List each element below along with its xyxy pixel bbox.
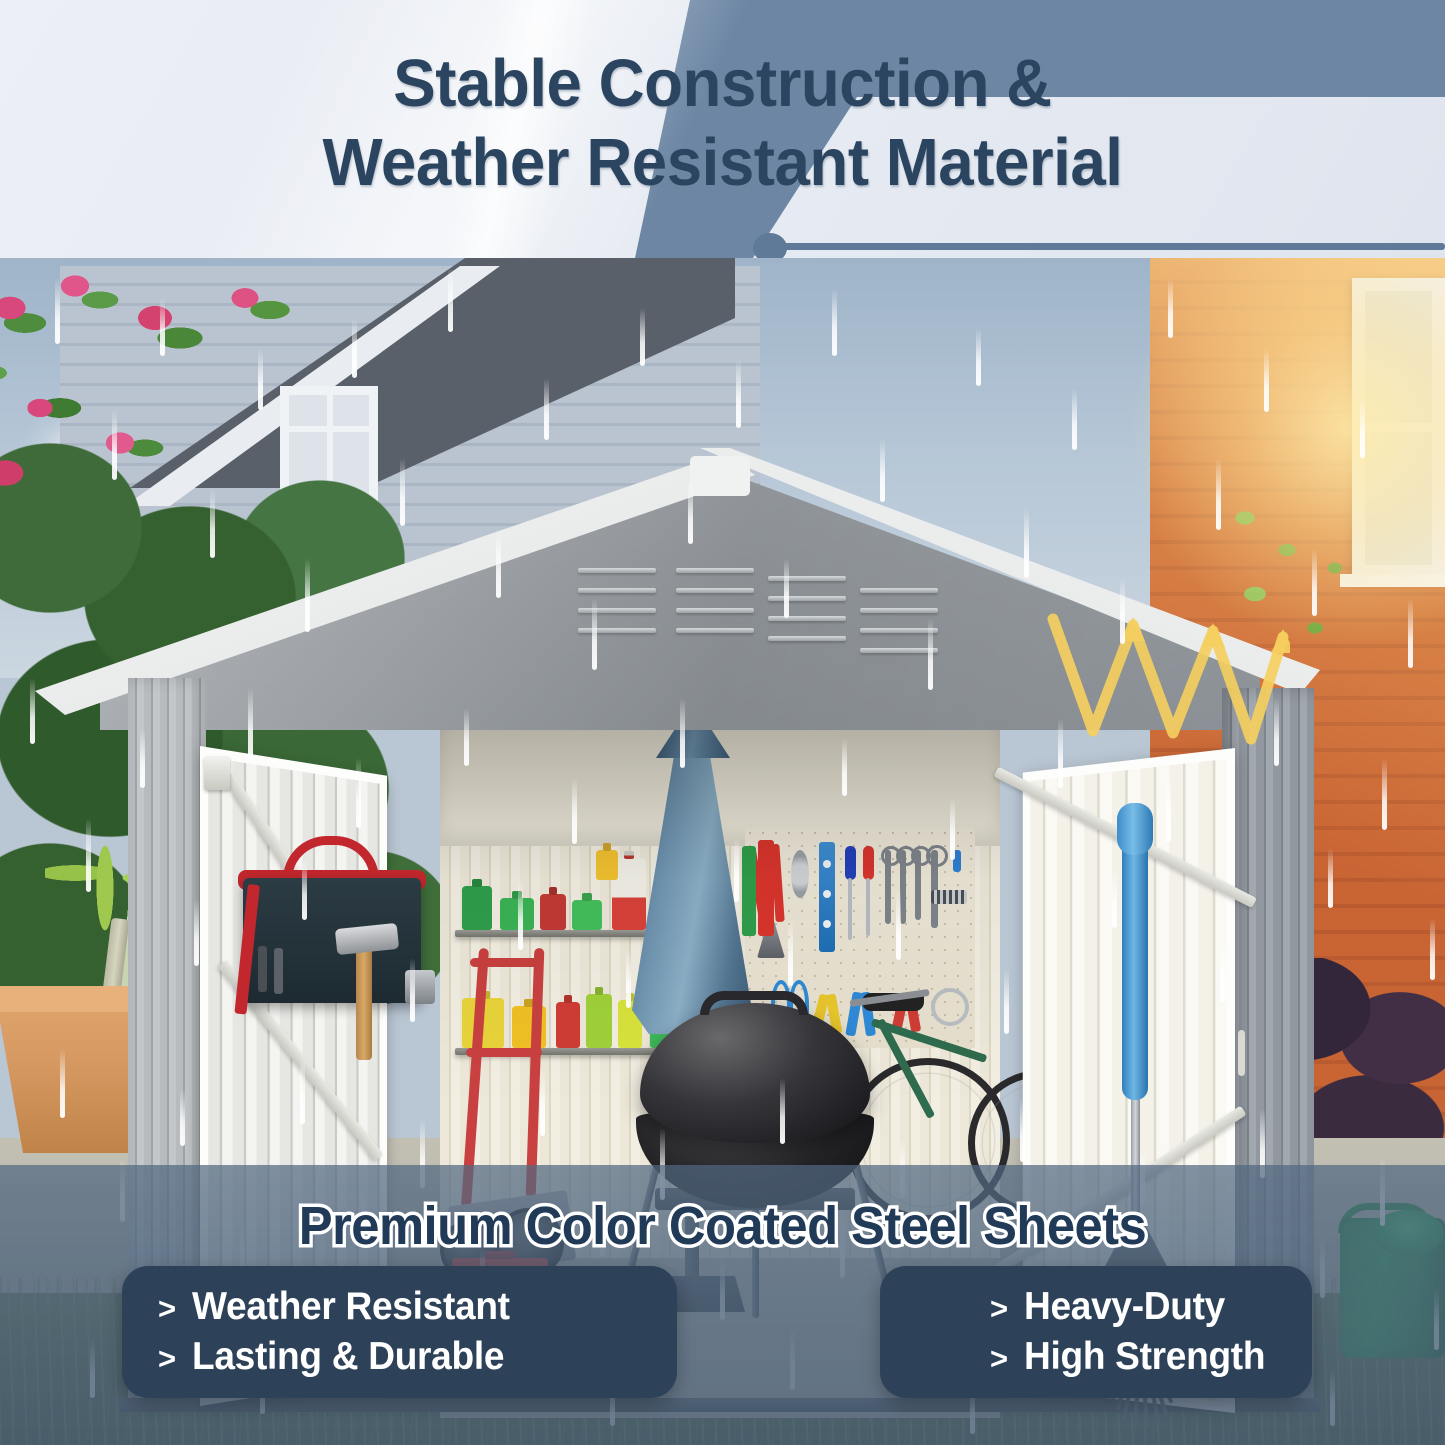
rake-grip bbox=[1117, 803, 1153, 855]
hand-tool-icon bbox=[405, 970, 435, 1004]
hacksaw-blade-icon bbox=[931, 890, 967, 904]
garden-trowel-icon bbox=[742, 846, 756, 936]
page-title-line2: Weather Resistant Material bbox=[36, 123, 1409, 202]
supply-bottle bbox=[556, 1002, 580, 1048]
hand-truck-crossbar bbox=[470, 958, 540, 967]
feature-item-lasting-durable: > Lasting & Durable bbox=[158, 1335, 677, 1379]
feature-item-high-strength: > High Strength bbox=[990, 1335, 1312, 1379]
door-left-hinge bbox=[204, 756, 230, 790]
supply-bottle bbox=[586, 994, 612, 1048]
wrench-ring-icon bbox=[926, 845, 948, 867]
bottom-headline: Premium Color Coated Steel Sheets bbox=[43, 1195, 1401, 1257]
header-rule bbox=[765, 243, 1445, 250]
feature-label: Weather Resistant bbox=[192, 1285, 510, 1329]
roof-vent bbox=[578, 568, 662, 644]
wire-coil-icon bbox=[791, 850, 809, 898]
page-title: Stable Construction & Weather Resistant … bbox=[36, 44, 1409, 202]
hand-truck-crossbar bbox=[466, 1048, 542, 1057]
chevron-right-icon: > bbox=[990, 1343, 1008, 1374]
supply-bottle bbox=[500, 898, 534, 930]
feature-label: High Strength bbox=[1024, 1335, 1265, 1379]
feature-item-heavy-duty: > Heavy-Duty bbox=[990, 1285, 1312, 1329]
supply-bottle bbox=[572, 900, 602, 930]
supply-bottle bbox=[540, 894, 566, 930]
screwdriver-blue-icon bbox=[845, 846, 856, 880]
chevron-right-icon: > bbox=[990, 1293, 1008, 1324]
feature-list-left: > Weather Resistant > Lasting & Durable bbox=[122, 1266, 677, 1398]
header-banner: Stable Construction & Weather Resistant … bbox=[0, 0, 1445, 258]
feature-label: Heavy-Duty bbox=[1024, 1285, 1225, 1329]
roof-vent bbox=[860, 588, 944, 664]
screwdriver-red-icon bbox=[863, 846, 874, 880]
level-vial-icon bbox=[823, 890, 831, 898]
feature-panel-right: > Heavy-Duty > High Strength bbox=[880, 1266, 1312, 1398]
screwdriver-shaft-icon bbox=[848, 878, 852, 940]
chevron-right-icon: > bbox=[158, 1343, 176, 1374]
feature-label: Lasting & Durable bbox=[192, 1335, 504, 1379]
chevron-right-icon: > bbox=[158, 1293, 176, 1324]
page-title-line1: Stable Construction & bbox=[36, 44, 1409, 123]
roof-vent bbox=[676, 568, 760, 644]
grill-handle bbox=[700, 991, 808, 1015]
clip-icon bbox=[953, 850, 961, 872]
supply-bottle bbox=[596, 850, 618, 880]
product-feature-poster: Stable Construction & Weather Resistant … bbox=[0, 0, 1445, 1445]
supply-bottle bbox=[462, 886, 492, 930]
door-right-handle[interactable] bbox=[1238, 1030, 1245, 1076]
screwdriver-in-bag-icon bbox=[258, 946, 267, 992]
level-vial-icon bbox=[823, 920, 831, 928]
screwdriver-shaft-icon bbox=[866, 878, 870, 936]
feature-panel-left: > Weather Resistant > Lasting & Durable bbox=[122, 1266, 677, 1398]
header-rule-dot bbox=[753, 233, 787, 258]
sun-reflection-arrows bbox=[1045, 613, 1290, 758]
feature-item-weather-resistant: > Weather Resistant bbox=[158, 1285, 677, 1329]
hammer-handle bbox=[356, 948, 372, 1060]
screwdriver-in-bag-icon bbox=[274, 948, 283, 994]
roof-vent bbox=[768, 576, 852, 652]
tool-red-handle-icon bbox=[758, 840, 774, 936]
tool-ring-icon bbox=[931, 988, 969, 1026]
level-vial-icon bbox=[823, 860, 831, 868]
feature-list-right: > Heavy-Duty > High Strength bbox=[880, 1266, 1312, 1398]
roof-ridge-cap bbox=[690, 456, 750, 496]
